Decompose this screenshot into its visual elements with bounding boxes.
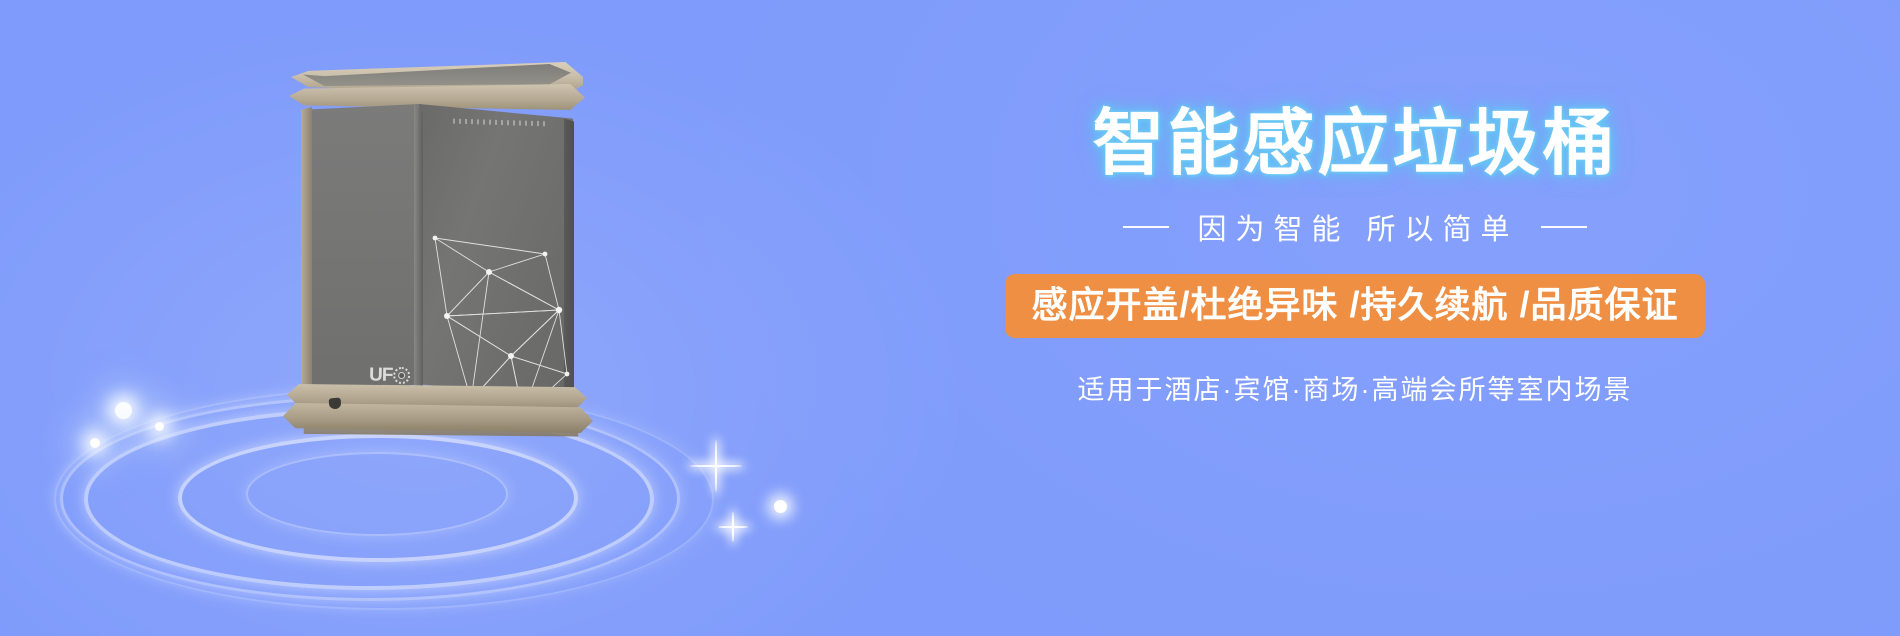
tagline-text: 因为智能 所以简单 (1191, 206, 1518, 248)
sparkle-dot-3 (155, 422, 164, 431)
ripple-ring-4 (246, 452, 508, 536)
logo-mark: UF (369, 365, 431, 385)
dash-left-icon (1123, 226, 1169, 228)
bin-face-left (301, 104, 419, 396)
marketing-copy-block: 智能感应垃圾桶 因为智能 所以简单 感应开盖/杜绝异味 /持久续航 /品质保证 … (880, 108, 1830, 407)
bin-edge-right (564, 104, 574, 396)
bin-body: UF 优福欧 智能科技 U F O I N T E L L I G E N T … (301, 104, 573, 396)
dash-right-icon (1541, 226, 1587, 228)
logo-ring-icon (393, 367, 410, 384)
product-image-smart-trash-can: UF 优福欧 智能科技 U F O I N T E L L I G E N T … (285, 62, 595, 437)
bin-edge-left (301, 104, 312, 396)
product-scene: UF 优福欧 智能科技 U F O I N T E L L I G E N T … (0, 0, 760, 636)
bin-edge-center (414, 104, 423, 396)
feature-badge: 感应开盖/杜绝异味 /持久续航 /品质保证 (1005, 274, 1704, 338)
usage-scenario-text: 适用于酒店·宾馆·商场·高端会所等室内场景 (880, 368, 1830, 407)
star-glint-icon-2 (718, 512, 748, 542)
sparkle-dot-2 (90, 438, 100, 448)
bin-face-right (419, 104, 573, 396)
tagline-row: 因为智能 所以简单 (880, 206, 1830, 248)
page-title: 智能感应垃圾桶 (880, 108, 1830, 180)
sparkle-dot-1 (115, 402, 132, 419)
glow-dot-1 (774, 500, 787, 513)
promo-banner: UF 优福欧 智能科技 U F O I N T E L L I G E N T … (0, 0, 1900, 636)
logo-mark-letters: UF (369, 365, 393, 384)
